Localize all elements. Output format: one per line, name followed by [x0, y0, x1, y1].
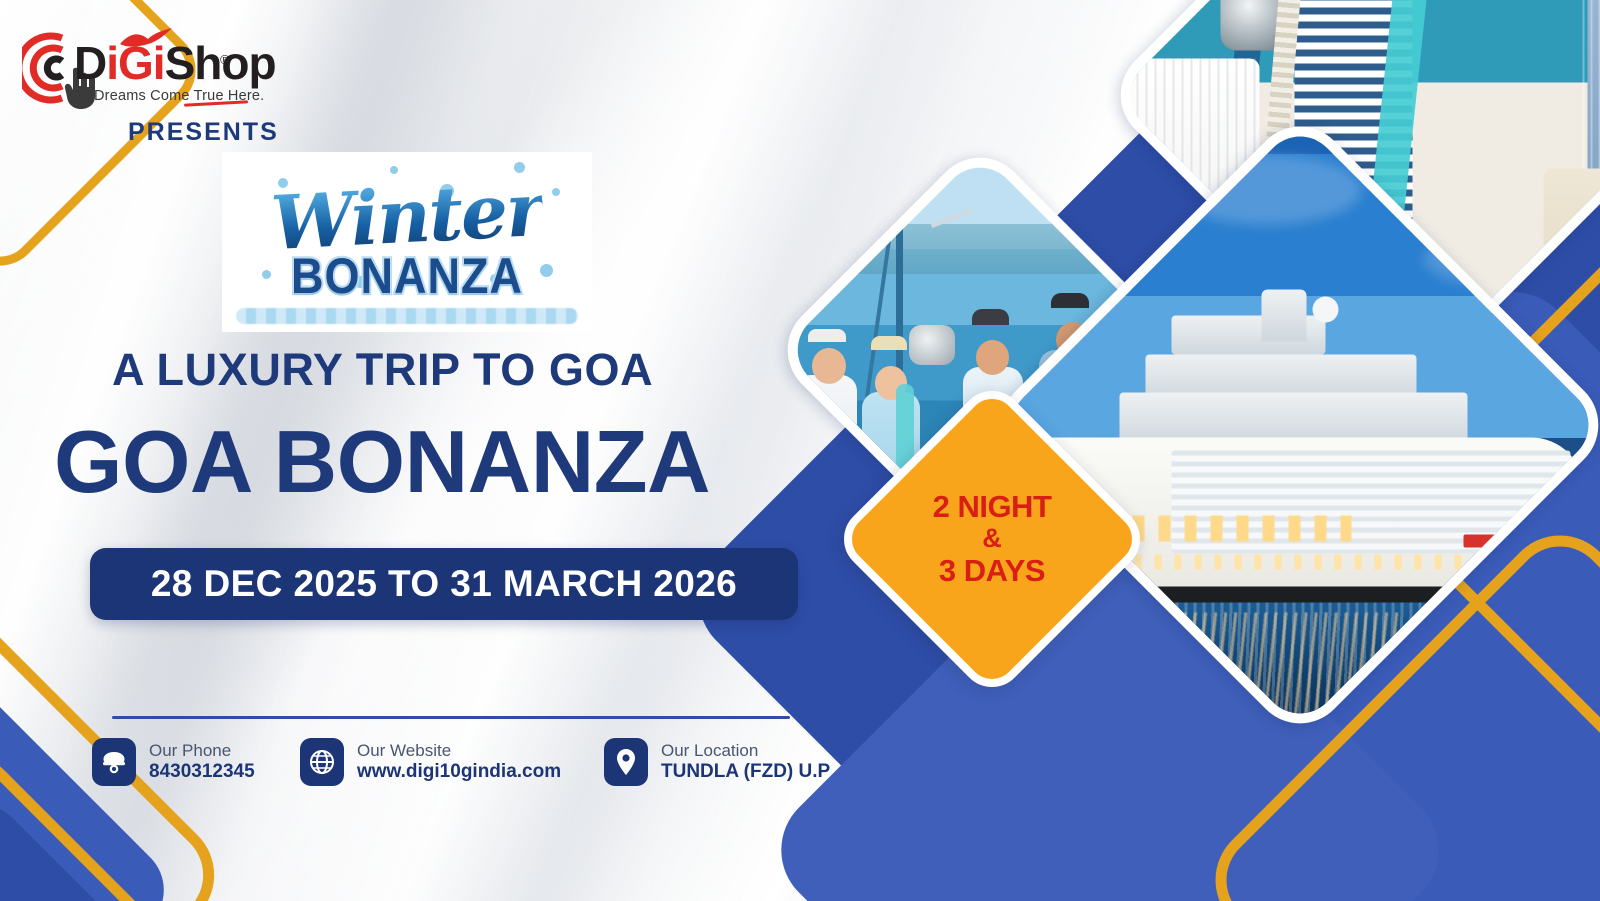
globe-icon	[300, 738, 344, 786]
footer-divider	[112, 716, 790, 719]
contact-location-label: Our Location	[661, 741, 830, 761]
poster-title: GOA BONANZA	[54, 418, 710, 506]
poster-subtitle: A LUXURY TRIP TO GOA	[112, 344, 653, 396]
logo-letter-d: D	[74, 37, 106, 89]
bonanza-block-word: BONANZA	[291, 247, 523, 305]
badge-line-2: &	[887, 524, 1097, 554]
winter-bonanza-logo: Winter BONANZA	[222, 152, 592, 332]
logo-letters-igi: iGi	[106, 37, 164, 89]
contact-row: Our Phone 8430312345 Our Website www.dig…	[92, 738, 852, 798]
map-pin-icon	[604, 738, 648, 786]
telephone-icon	[92, 738, 136, 786]
badge-line-3: 3 DAYS	[887, 554, 1097, 588]
date-range-text: 28 DEC 2025 TO 31 MARCH 2026	[151, 563, 737, 605]
contact-phone[interactable]: Our Phone 8430312345	[92, 738, 255, 786]
duration-badge-text: 2 NIGHT & 3 DAYS	[887, 490, 1097, 588]
contact-website-value: www.digi10gindia.com	[357, 761, 561, 783]
logo-wordmark: DiGiShop	[74, 40, 276, 86]
contact-phone-label: Our Phone	[149, 741, 255, 761]
contact-website[interactable]: Our Website www.digi10gindia.com	[300, 738, 561, 786]
contact-location-value: TUNDLA (FZD) U.P	[661, 761, 830, 783]
registered-mark: ®	[220, 52, 230, 67]
contact-website-label: Our Website	[357, 741, 561, 761]
promotional-poster: 2 NIGHT & 3 DAYS DiGiShop ® Dreams Come …	[0, 0, 1600, 901]
snow-wave-decoration	[236, 308, 578, 324]
date-range-banner: 28 DEC 2025 TO 31 MARCH 2026	[90, 548, 798, 620]
contact-phone-value: 8430312345	[149, 761, 255, 783]
presents-label: PRESENTS	[128, 118, 279, 147]
digishop-logo[interactable]: DiGiShop ® Dreams Come True Here.	[22, 18, 272, 110]
contact-location[interactable]: Our Location TUNDLA (FZD) U.P	[604, 738, 830, 786]
badge-line-1: 2 NIGHT	[887, 490, 1097, 524]
